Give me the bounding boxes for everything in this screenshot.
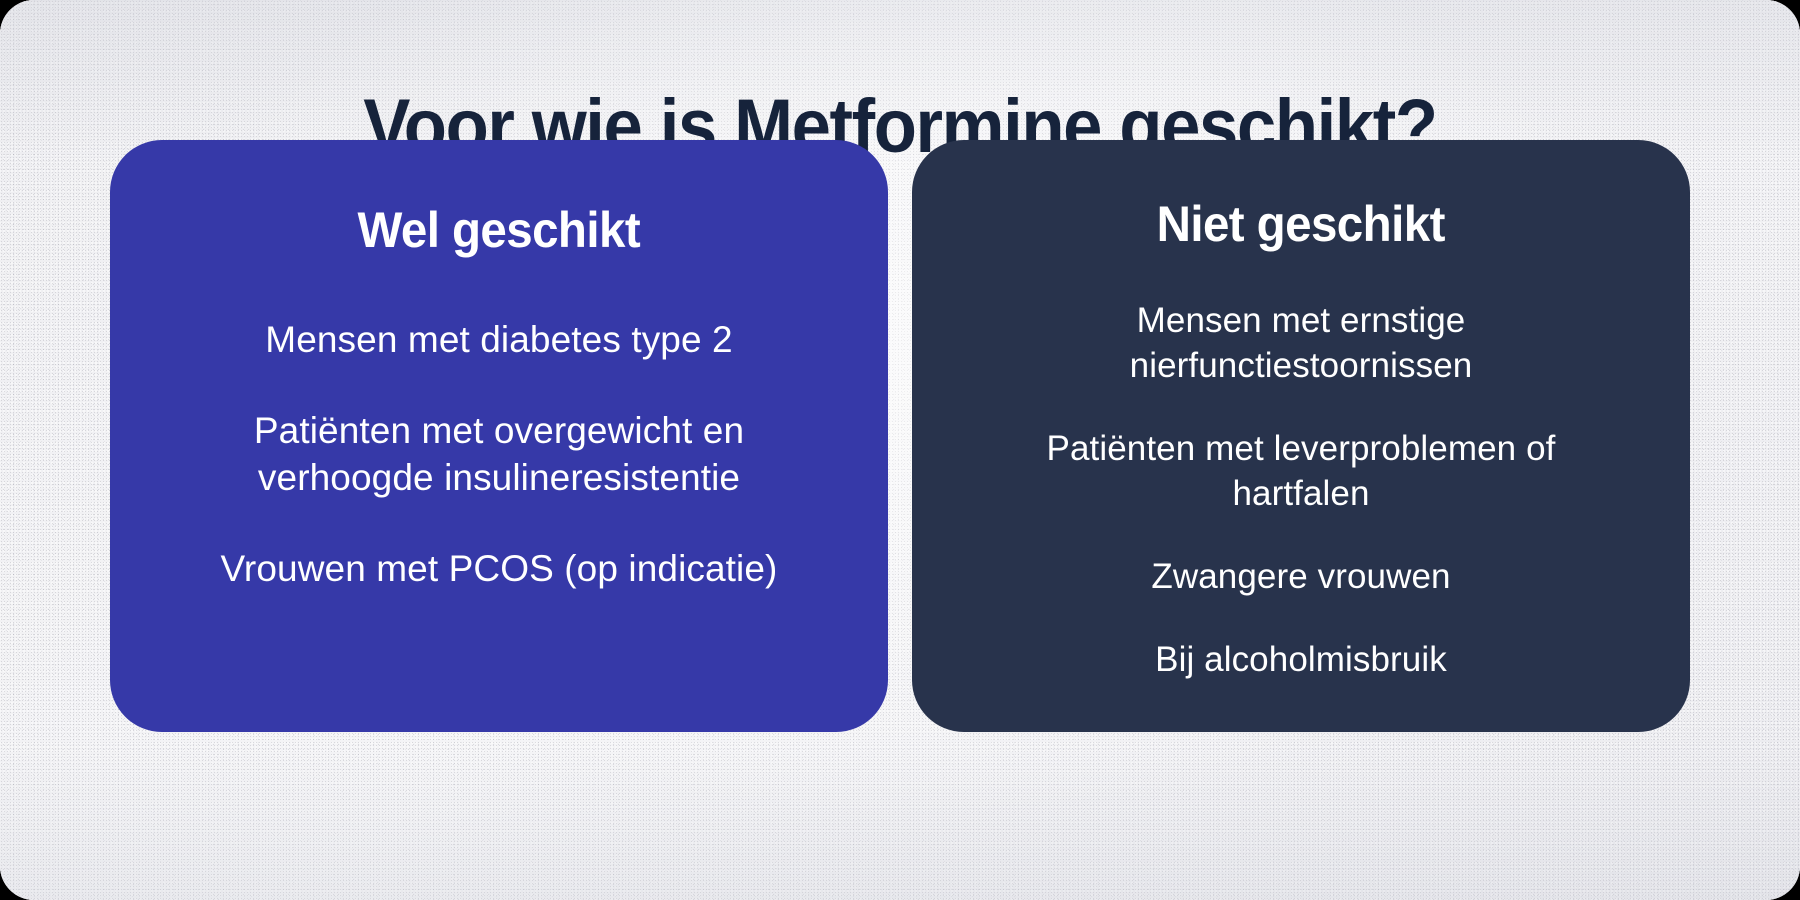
list-item: Vrouwen met PCOS (op indicatie) bbox=[221, 545, 778, 592]
card-suitable: Wel geschikt Mensen met diabetes type 2 … bbox=[110, 140, 888, 732]
card-suitable-list: Mensen met diabetes type 2 Patiënten met… bbox=[144, 274, 854, 592]
comparison-cards-row: Wel geschikt Mensen met diabetes type 2 … bbox=[110, 140, 1690, 732]
card-unsuitable-heading: Niet geschikt bbox=[1157, 194, 1445, 254]
infographic-canvas: Voor wie is Metformine geschikt? Wel ges… bbox=[0, 0, 1800, 900]
list-item: Mensen met ernstige nierfunctiestoorniss… bbox=[1021, 298, 1581, 388]
list-item: Patiënten met leverproblemen of hartfale… bbox=[1021, 426, 1581, 516]
list-item: Patiënten met overgewicht en verhoogde i… bbox=[219, 407, 779, 501]
card-suitable-heading: Wel geschikt bbox=[358, 200, 641, 260]
card-unsuitable-list: Mensen met ernstige nierfunctiestoorniss… bbox=[946, 268, 1656, 682]
card-unsuitable: Niet geschikt Mensen met ernstige nierfu… bbox=[912, 140, 1690, 732]
list-item: Zwangere vrouwen bbox=[1151, 554, 1450, 599]
list-item: Mensen met diabetes type 2 bbox=[265, 316, 732, 363]
list-item: Bij alcoholmisbruik bbox=[1155, 637, 1447, 682]
